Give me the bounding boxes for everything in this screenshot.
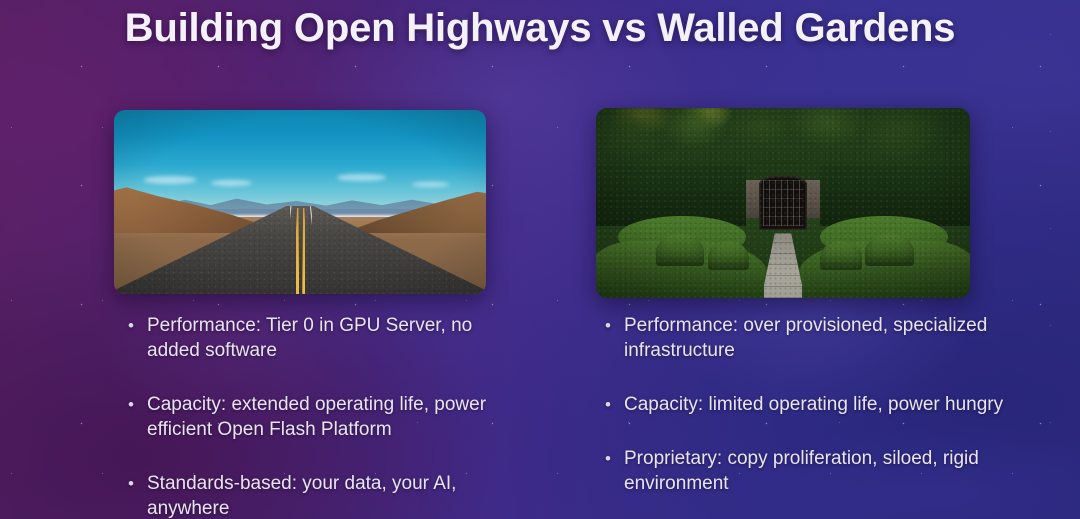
slide-canvas: Building Open Highways vs Walled Gardens <box>0 0 1080 519</box>
bullet-dot-icon: • <box>605 392 624 417</box>
bullet-dot-icon: • <box>605 313 624 338</box>
bullet-text: Proprietary: copy proliferation, siloed,… <box>624 446 1005 496</box>
slide-title: Building Open Highways vs Walled Gardens <box>0 6 1080 51</box>
garden-scene <box>596 108 970 298</box>
bullet-text: Performance: Tier 0 in GPU Server, no ad… <box>147 313 528 363</box>
bullet-dot-icon: • <box>128 392 147 417</box>
bullet-text: Performance: over provisioned, specializ… <box>624 313 1005 363</box>
list-item: • Performance: Tier 0 in GPU Server, no … <box>128 313 528 363</box>
list-item: • Capacity: limited operating life, powe… <box>605 392 1005 417</box>
list-item: • Capacity: extended operating life, pow… <box>128 392 528 442</box>
photo-vignette <box>596 108 970 298</box>
bullet-text: Capacity: extended operating life, power… <box>147 392 528 442</box>
bullet-dot-icon: • <box>128 471 147 496</box>
photo-vignette <box>114 110 486 294</box>
right-bullet-column: • Performance: over provisioned, special… <box>605 313 1005 496</box>
bullet-text: Standards-based: your data, your AI, any… <box>147 471 528 519</box>
list-item: • Performance: over provisioned, special… <box>605 313 1005 363</box>
left-bullet-column: • Performance: Tier 0 in GPU Server, no … <box>128 313 528 519</box>
list-item: • Proprietary: copy proliferation, siloe… <box>605 446 1005 496</box>
bullet-dot-icon: • <box>128 313 147 338</box>
list-item: • Standards-based: your data, your AI, a… <box>128 471 528 519</box>
bullet-text: Capacity: limited operating life, power … <box>624 392 1005 417</box>
open-highway-photo <box>114 110 486 294</box>
walled-garden-photo <box>596 108 970 298</box>
highway-scene <box>114 110 486 294</box>
bullet-dot-icon: • <box>605 446 624 471</box>
